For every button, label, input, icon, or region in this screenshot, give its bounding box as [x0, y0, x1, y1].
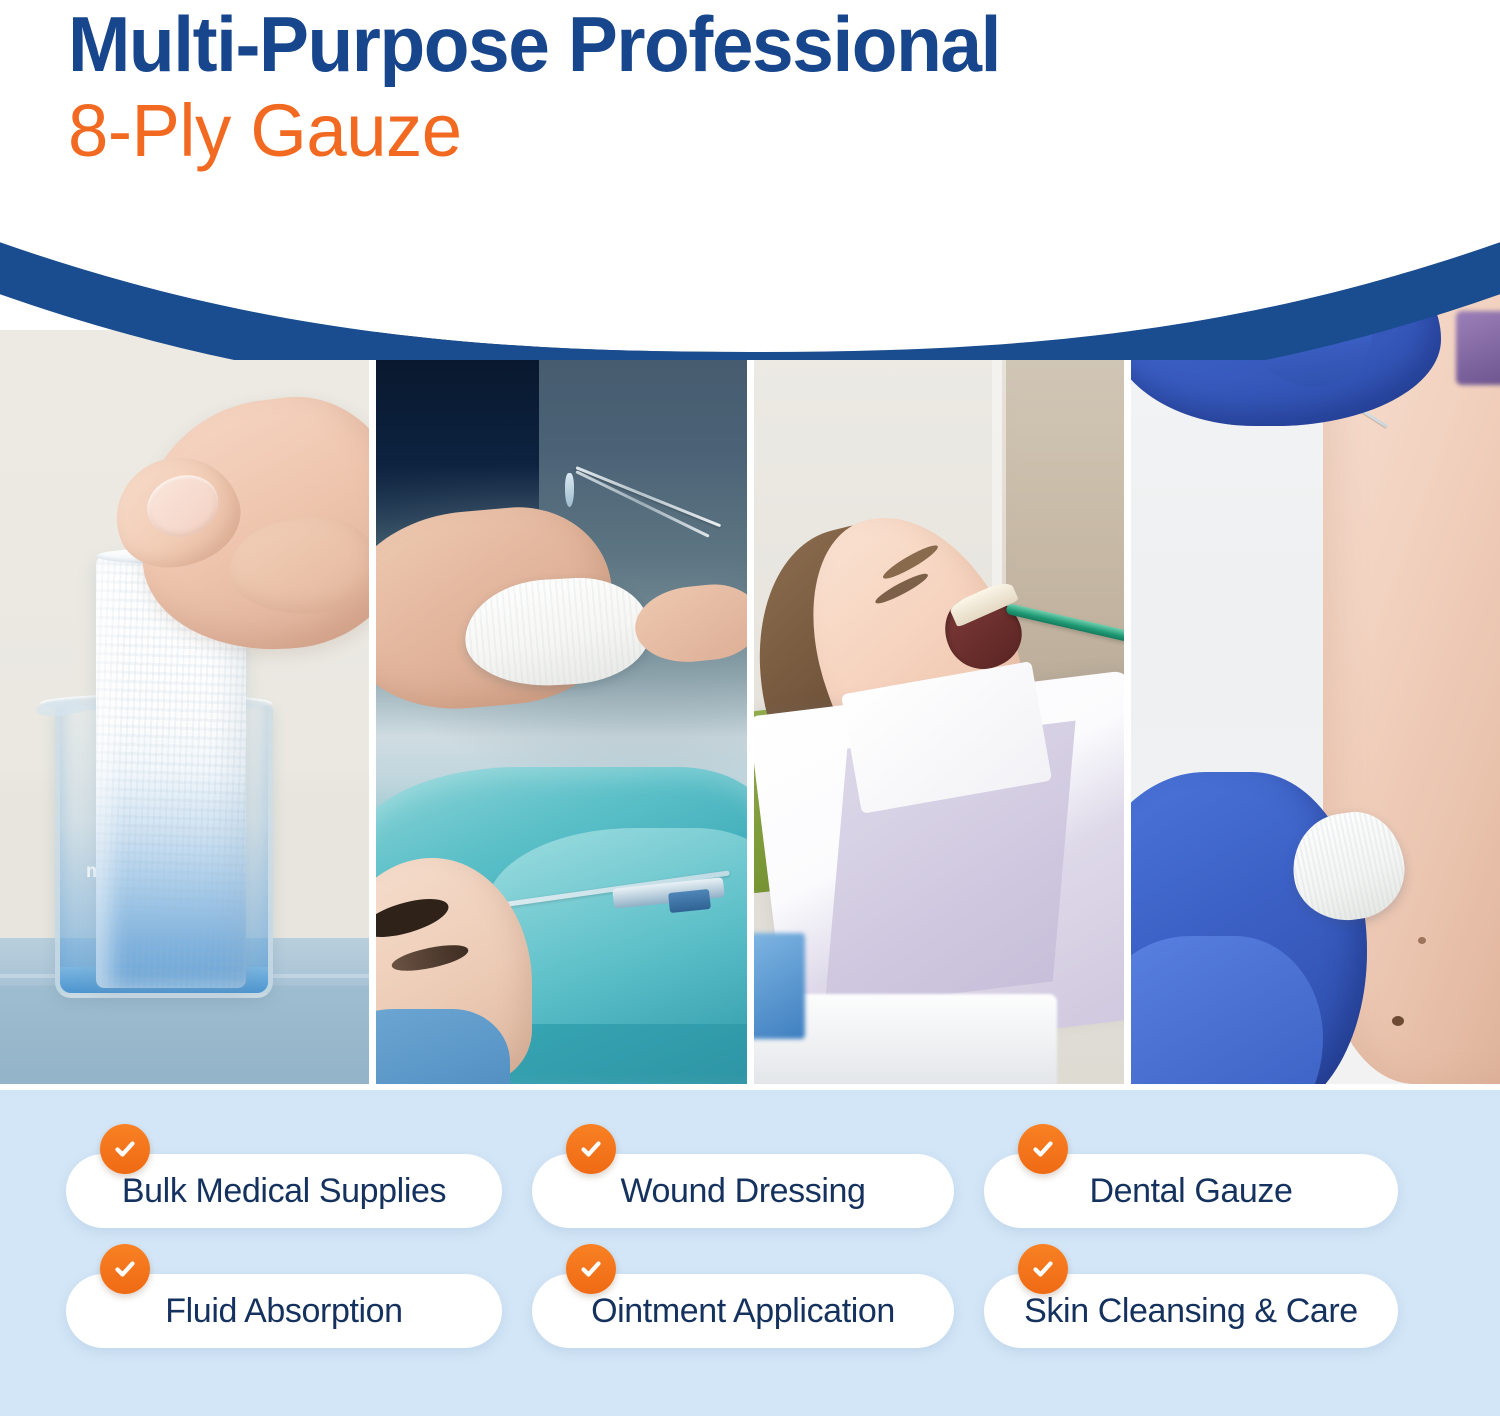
- page-subtitle: 8-Ply Gauze: [68, 94, 1019, 168]
- photo-dental-patient-chair: [754, 330, 1124, 1084]
- photo-gauze-roll-absorption-beaker: 50 40 30 20 10 APPROX ml: [0, 330, 369, 1084]
- feature-item-wound-dressing[interactable]: Wound Dressing: [532, 1124, 984, 1240]
- page-title: Multi-Purpose Professional: [68, 6, 1000, 82]
- feature-item-ointment-application[interactable]: Ointment Application: [532, 1244, 984, 1360]
- equipment-screen: [754, 933, 806, 1039]
- background-equipment: [1456, 311, 1500, 385]
- feature-band: Bulk Medical Supplies Wound Dressing Den…: [0, 1090, 1500, 1416]
- syringe-plunger: [668, 889, 711, 913]
- header: Multi-Purpose Professional 8-Ply Gauze: [0, 0, 1500, 250]
- feature-label: Ointment Application: [565, 1292, 921, 1331]
- photo-surgical-gauze-handoff: [376, 330, 746, 1084]
- check-circle-icon: [1018, 1124, 1068, 1174]
- feature-item-dental-gauze[interactable]: Dental Gauze: [984, 1124, 1438, 1240]
- feature-item-bulk-medical-supplies[interactable]: Bulk Medical Supplies: [66, 1124, 532, 1240]
- check-circle-icon: [566, 1244, 616, 1294]
- feature-label: Bulk Medical Supplies: [96, 1172, 472, 1211]
- feature-list: Bulk Medical Supplies Wound Dressing Den…: [66, 1124, 1438, 1360]
- feature-item-fluid-absorption[interactable]: Fluid Absorption: [66, 1244, 532, 1360]
- title-block: Multi-Purpose Professional 8-Ply Gauze: [68, 6, 1039, 168]
- check-circle-icon: [1018, 1244, 1068, 1294]
- check-circle-icon: [100, 1124, 150, 1174]
- feature-item-skin-cleansing-and-care[interactable]: Skin Cleansing & Care: [984, 1244, 1438, 1360]
- feature-label: Fluid Absorption: [139, 1292, 428, 1331]
- product-photo-grid: 50 40 30 20 10 APPROX ml: [0, 262, 1500, 1084]
- feature-label: Skin Cleansing & Care: [998, 1292, 1384, 1331]
- photo-injection-gauze-arm: [1131, 262, 1500, 1084]
- check-circle-icon: [100, 1244, 150, 1294]
- check-circle-icon: [566, 1124, 616, 1174]
- feature-label: Wound Dressing: [594, 1172, 891, 1211]
- feature-label: Dental Gauze: [1063, 1172, 1318, 1211]
